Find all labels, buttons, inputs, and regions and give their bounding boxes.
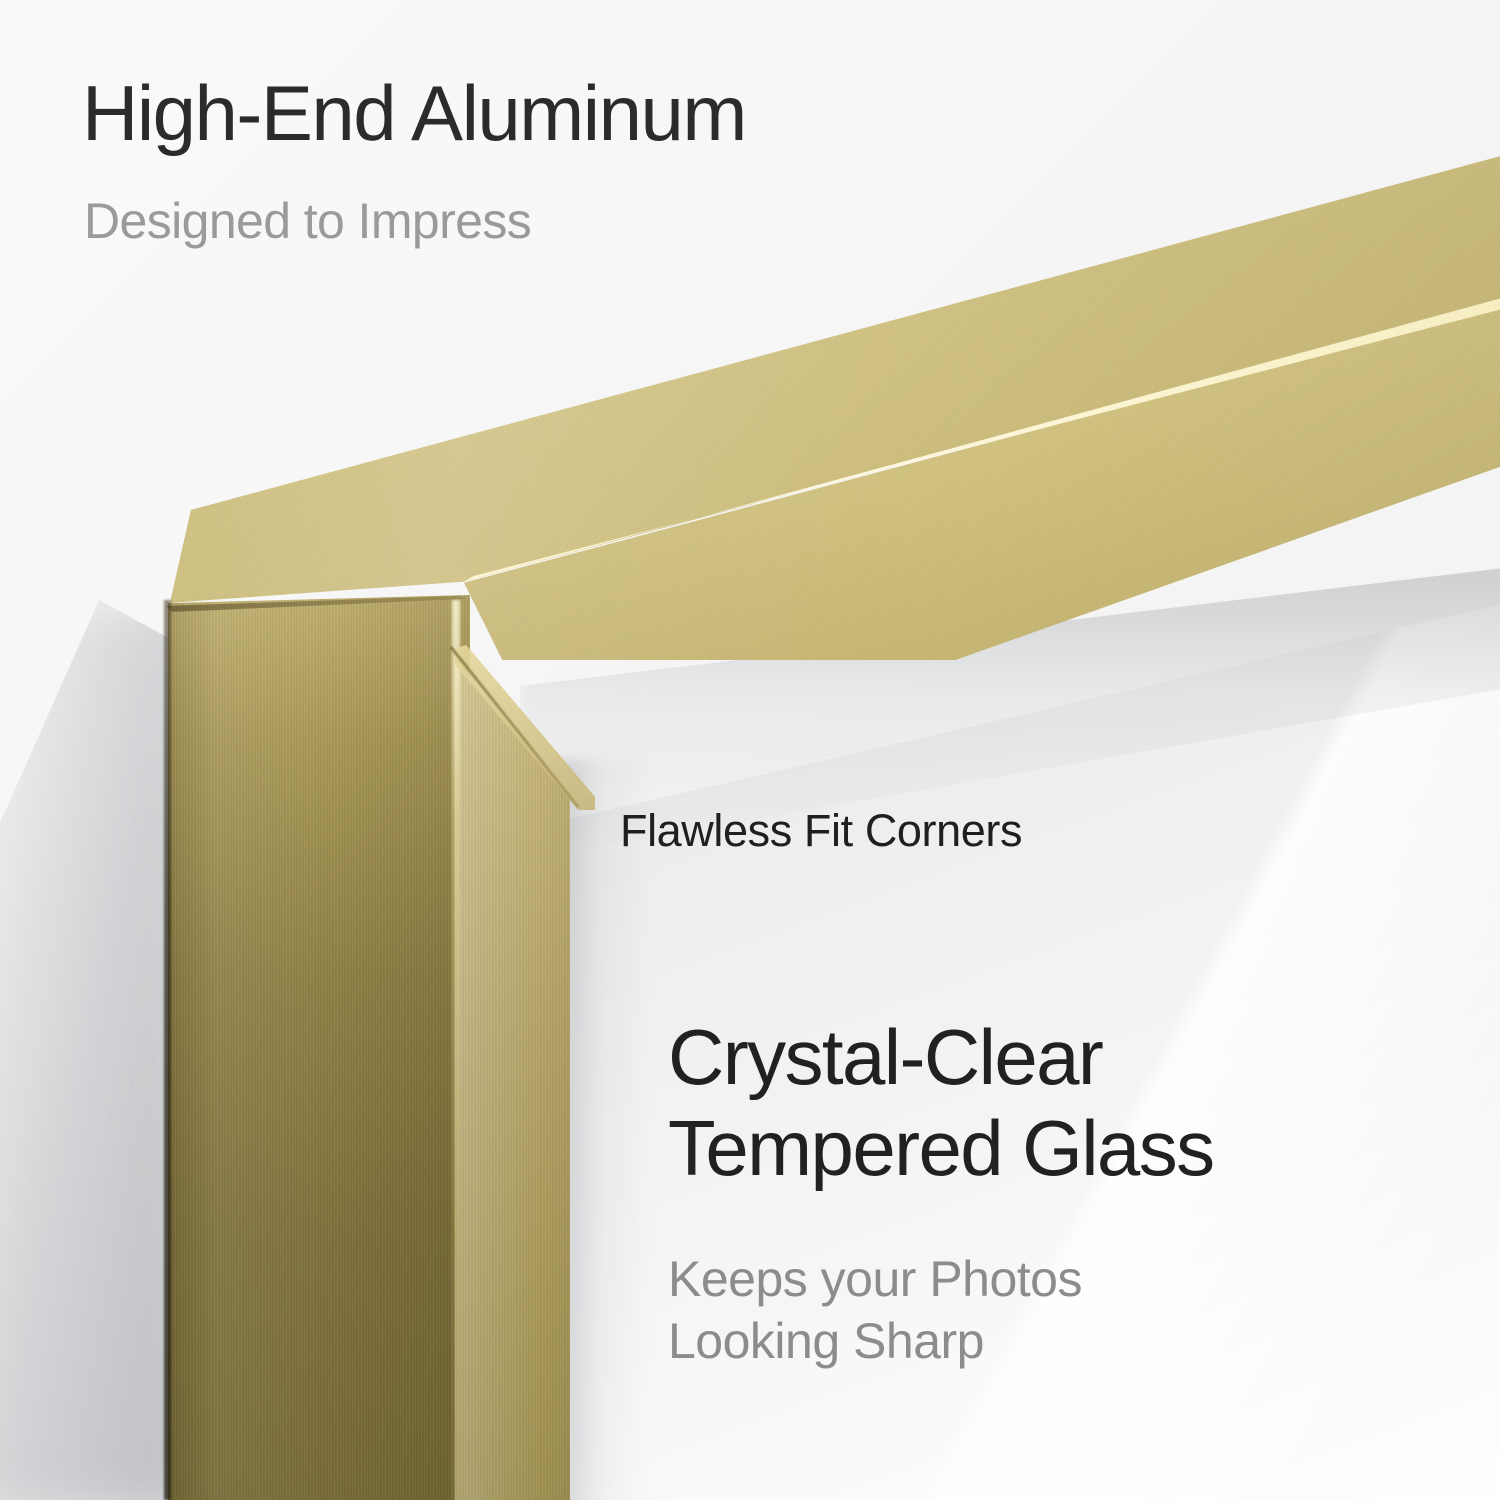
product-feature-image: High-End Aluminum Designed to Impress Fl… (0, 0, 1500, 1500)
glass-feature-subtext-line1: Keeps your Photos (668, 1251, 1082, 1307)
frame-left-stile-edge-line (164, 600, 171, 1500)
glass-feature-title: Crystal-Clear Tempered Glass (668, 1012, 1214, 1195)
subheadline: Designed to Impress (84, 196, 531, 246)
glass-feature-title-line2: Tempered Glass (668, 1103, 1214, 1194)
glass-feature-subtext-line2: Looking Sharp (668, 1310, 1082, 1372)
headline: High-End Aluminum (82, 74, 746, 152)
glass-feature-title-line1: Crystal-Clear (668, 1013, 1102, 1101)
glass-feature-subtext: Keeps your Photos Looking Sharp (668, 1248, 1082, 1372)
frame-left-stile-outer-face (160, 595, 470, 1500)
frame-miter-seam (440, 640, 600, 820)
corner-callout-label: Flawless Fit Corners (620, 808, 1022, 853)
